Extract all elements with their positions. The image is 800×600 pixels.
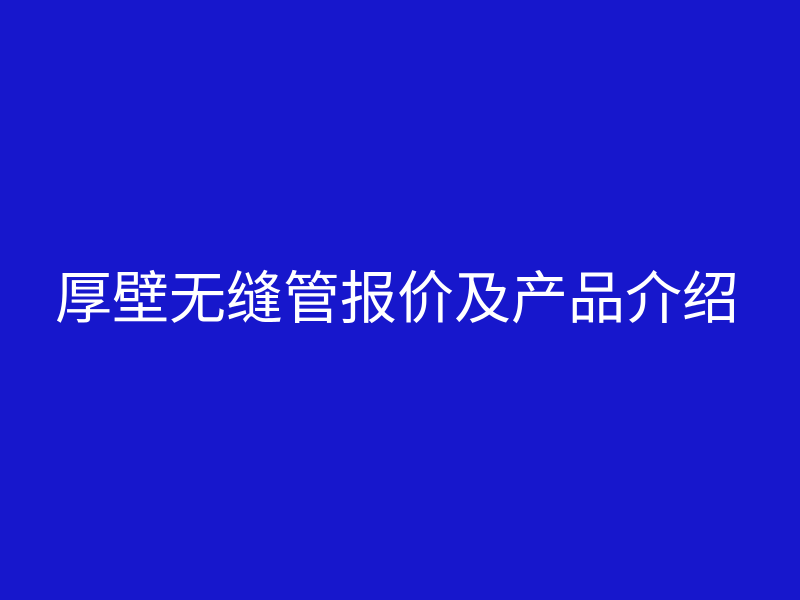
banner-canvas: 厚壁无缝管报价及产品介绍 — [0, 0, 800, 600]
page-title: 厚壁无缝管报价及产品介绍 — [55, 271, 739, 328]
headline-block: 厚壁无缝管报价及产品介绍 — [0, 0, 800, 600]
